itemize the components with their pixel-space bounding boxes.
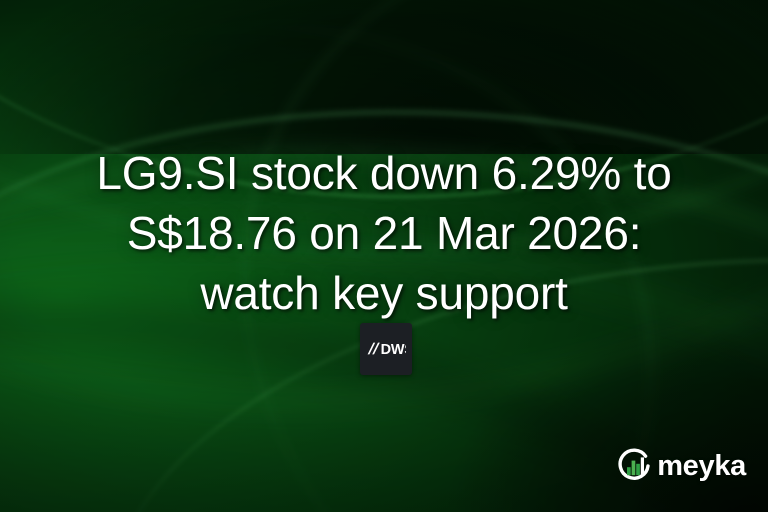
brand-logo: meyka bbox=[614, 446, 746, 486]
meyka-ring-chart-icon bbox=[614, 446, 654, 486]
headline-text: LG9.SI stock down 6.29% to S$18.76 on 21… bbox=[0, 143, 768, 323]
svg-text:DWS: DWS bbox=[381, 342, 406, 358]
ticker-logo-dws: DWS bbox=[360, 323, 412, 375]
dws-wordmark-icon: DWS bbox=[366, 340, 406, 358]
brand-name-text: meyka bbox=[657, 452, 746, 481]
social-share-card: LG9.SI stock down 6.29% to S$18.76 on 21… bbox=[0, 0, 768, 512]
